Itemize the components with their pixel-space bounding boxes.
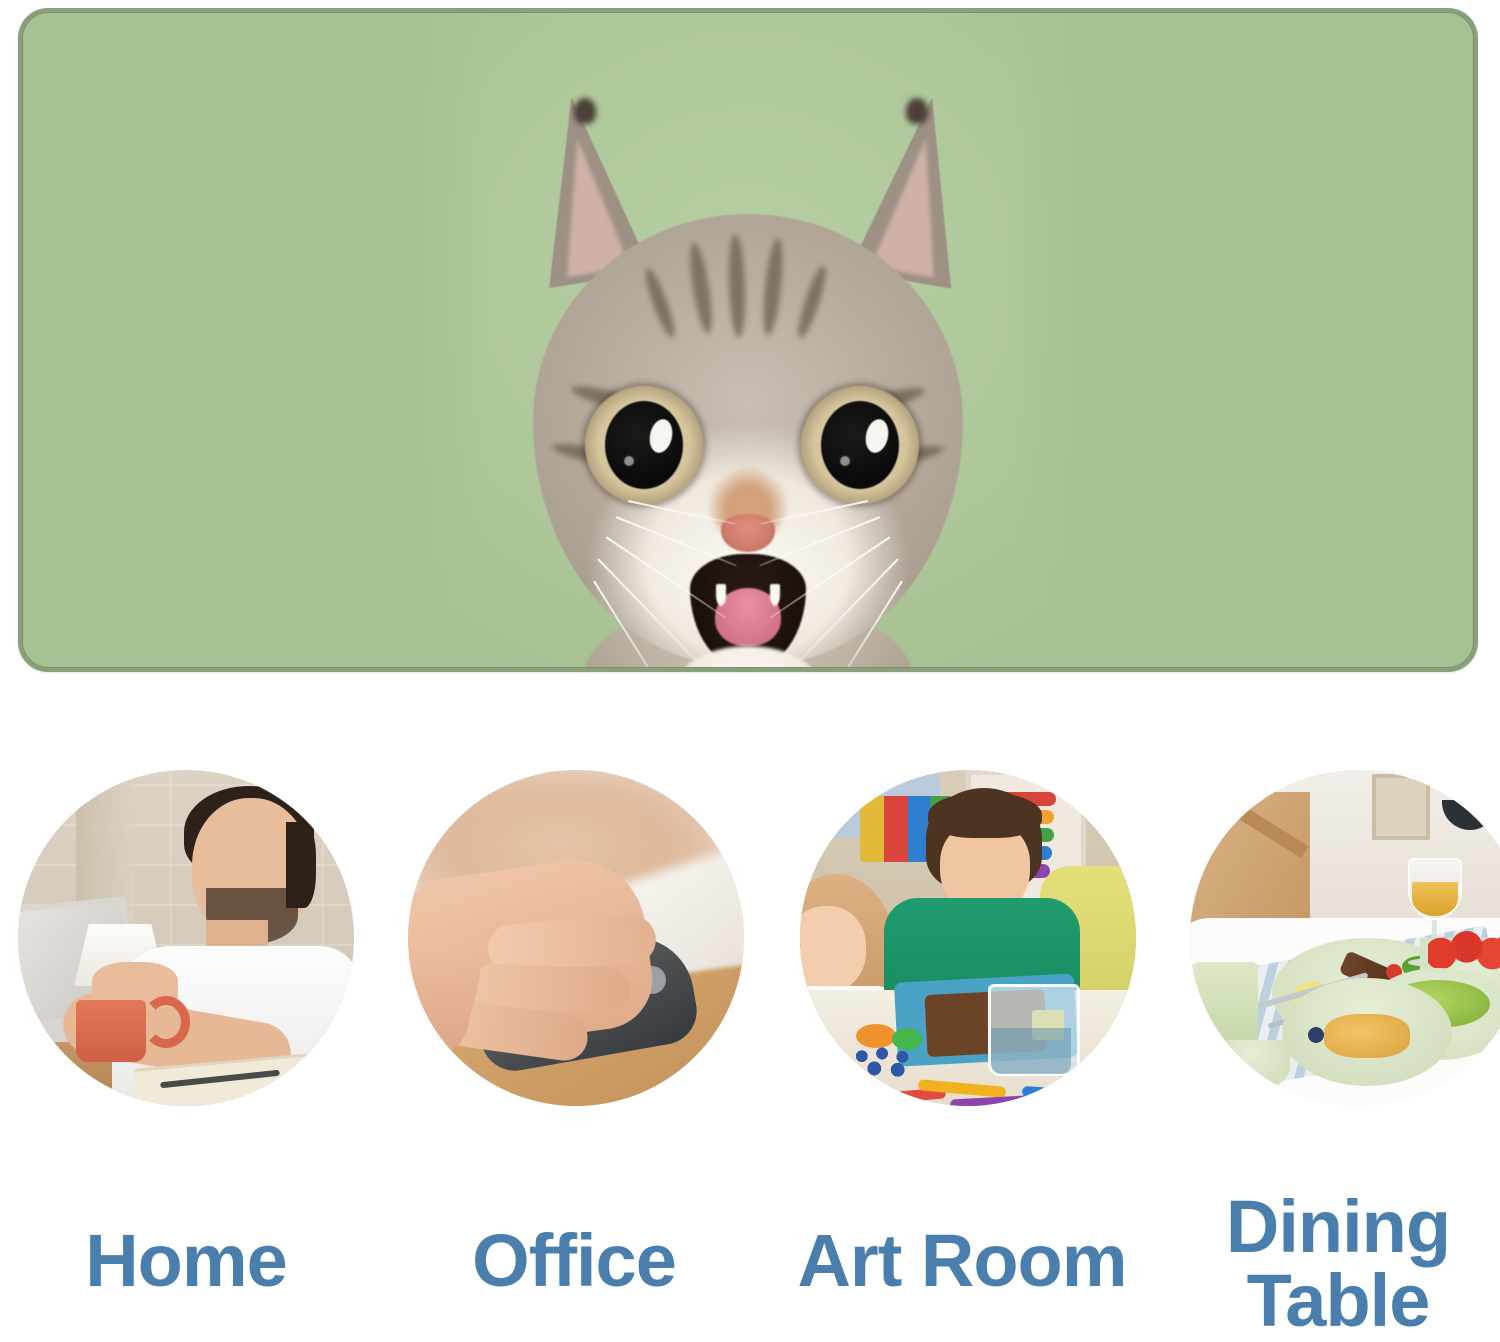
- scene-label-home: Home: [16, 1224, 356, 1298]
- cat-eye-glint: [840, 456, 850, 466]
- scene-photo-home: [18, 770, 354, 1106]
- cat-stripe: [686, 241, 716, 334]
- cat-stripe: [760, 237, 786, 336]
- scene-photo-office: [408, 770, 744, 1106]
- cat-stripe: [794, 264, 831, 341]
- cat-pupil-right: [821, 401, 899, 489]
- artwork-fade-left: [418, 8, 488, 672]
- surprised-cat: [498, 96, 998, 672]
- scene-label-dining-line1: Dining: [1168, 1190, 1500, 1264]
- cat-fang-left: [716, 584, 726, 606]
- cat-ear-tip-right: [906, 98, 928, 124]
- cat-eye-glint: [624, 456, 634, 466]
- usage-scenes: [0, 770, 1500, 1110]
- artwork-fade-right: [1008, 8, 1078, 672]
- scene-label-dining-table: Dining Table: [1168, 1190, 1500, 1338]
- cat-eye-glint: [647, 417, 676, 455]
- cat-pupil-left: [605, 401, 683, 489]
- scene-label-dining-line2: Table: [1168, 1264, 1500, 1338]
- cat-head: [533, 214, 963, 664]
- scene-labels: Home Office Art Room Dining Table: [0, 1190, 1500, 1328]
- cat-eye-left: [585, 386, 703, 504]
- cat-stripe: [641, 266, 679, 340]
- cat-stripe: [727, 234, 747, 338]
- cat-ear-tip-left: [574, 98, 596, 124]
- cat-eye-glint: [863, 417, 892, 455]
- desk-mat-product-image: [18, 8, 1478, 672]
- scene-photo-dining-table: [1190, 770, 1500, 1106]
- scene-photo-art-room: [800, 770, 1136, 1106]
- desk-mat-surface: [18, 8, 1478, 672]
- cat-fang-right: [770, 584, 780, 606]
- scene-label-office: Office: [404, 1224, 744, 1298]
- cat-artwork: [418, 8, 1078, 672]
- cat-eye-right: [801, 386, 919, 504]
- scene-label-art-room: Art Room: [792, 1224, 1132, 1298]
